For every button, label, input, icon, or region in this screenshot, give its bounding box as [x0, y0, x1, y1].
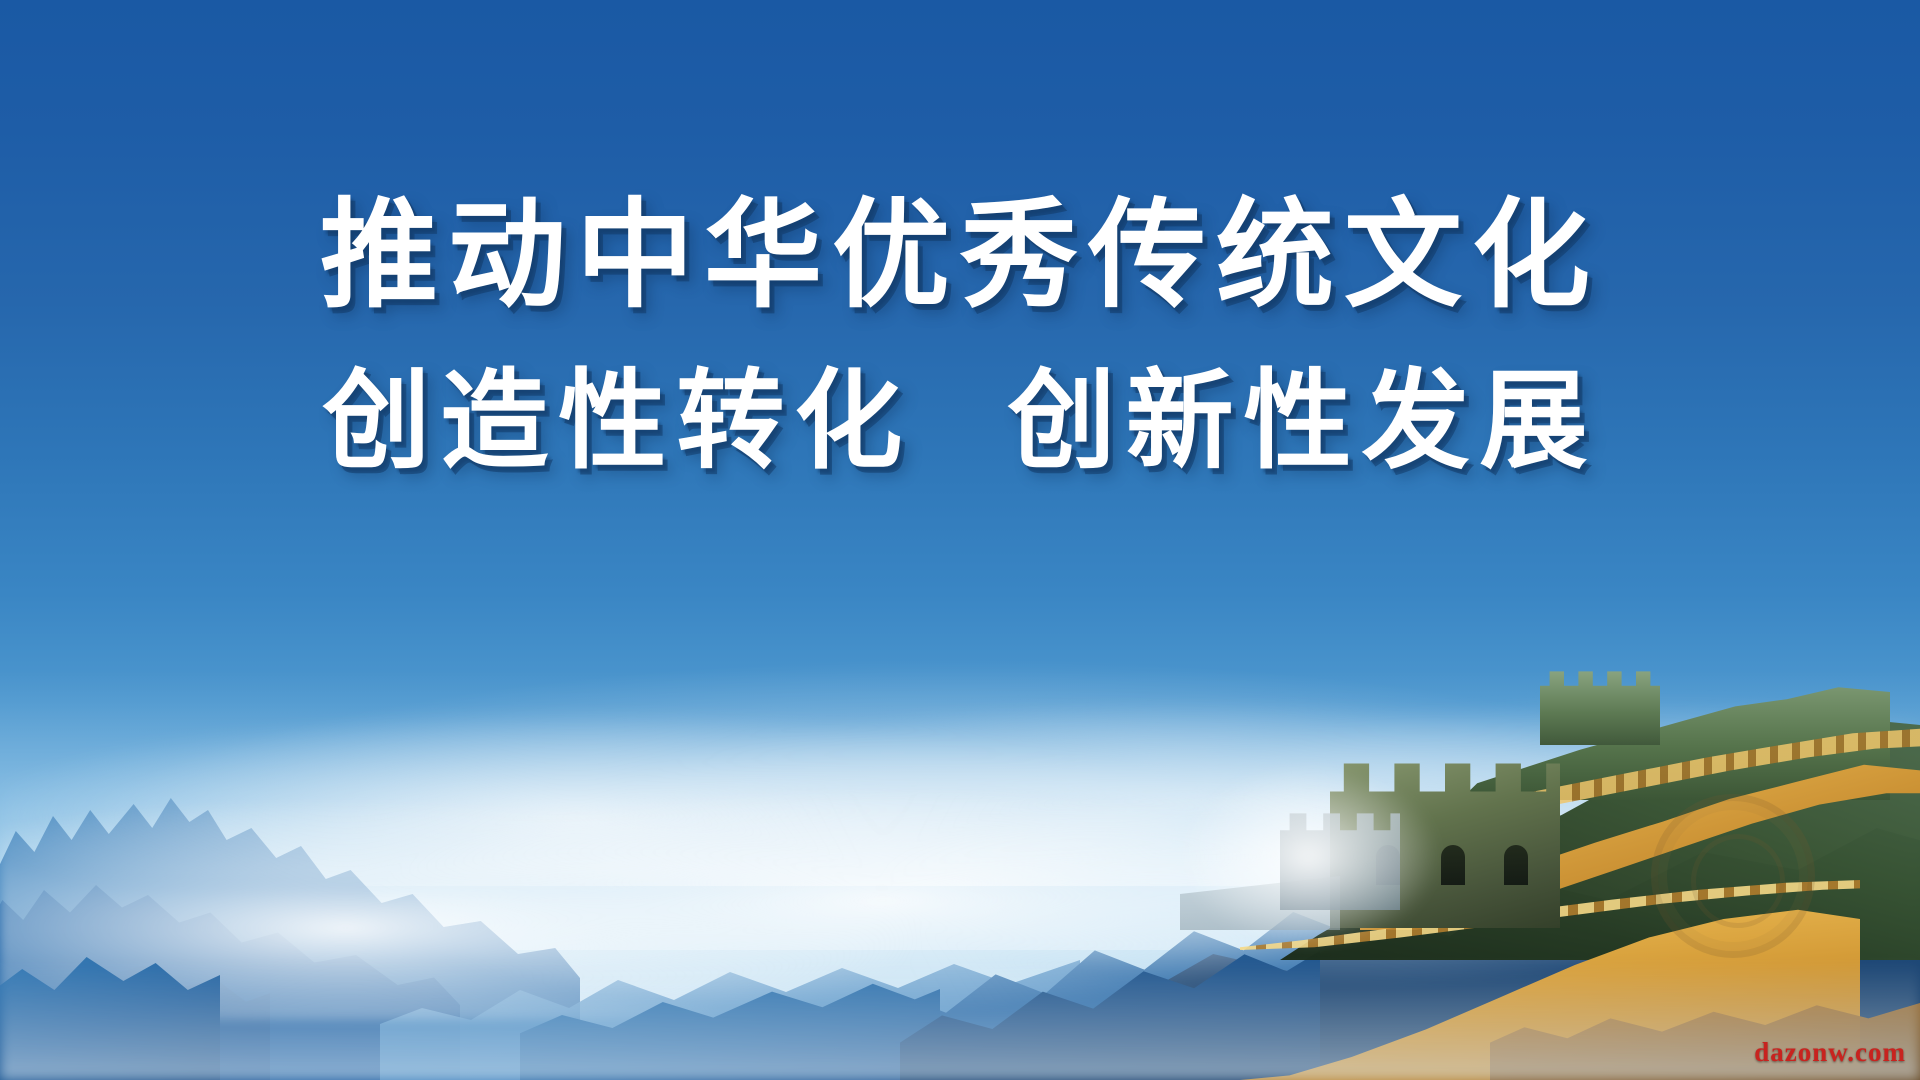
poster-canvas: 推动中华优秀传统文化 创造性转化 创新性发展 dazonw.com — [0, 0, 1920, 1080]
poster-title-line-2: 创造性转化 创新性发展 — [0, 368, 1920, 476]
circular-seal-watermark-icon — [1651, 794, 1815, 958]
poster-title-line-1: 推动中华优秀传统文化 — [0, 196, 1920, 314]
wall-upper-tower — [1540, 665, 1660, 745]
foreground-peak-left — [0, 930, 220, 1080]
poster-title-block: 推动中华优秀传统文化 创造性转化 创新性发展 — [0, 196, 1920, 476]
foreground-peak-middle — [520, 950, 940, 1080]
site-watermark: dazonw.com — [1754, 1037, 1906, 1068]
distant-wall-fog — [1160, 730, 1490, 960]
watchtower-window — [1504, 845, 1528, 885]
